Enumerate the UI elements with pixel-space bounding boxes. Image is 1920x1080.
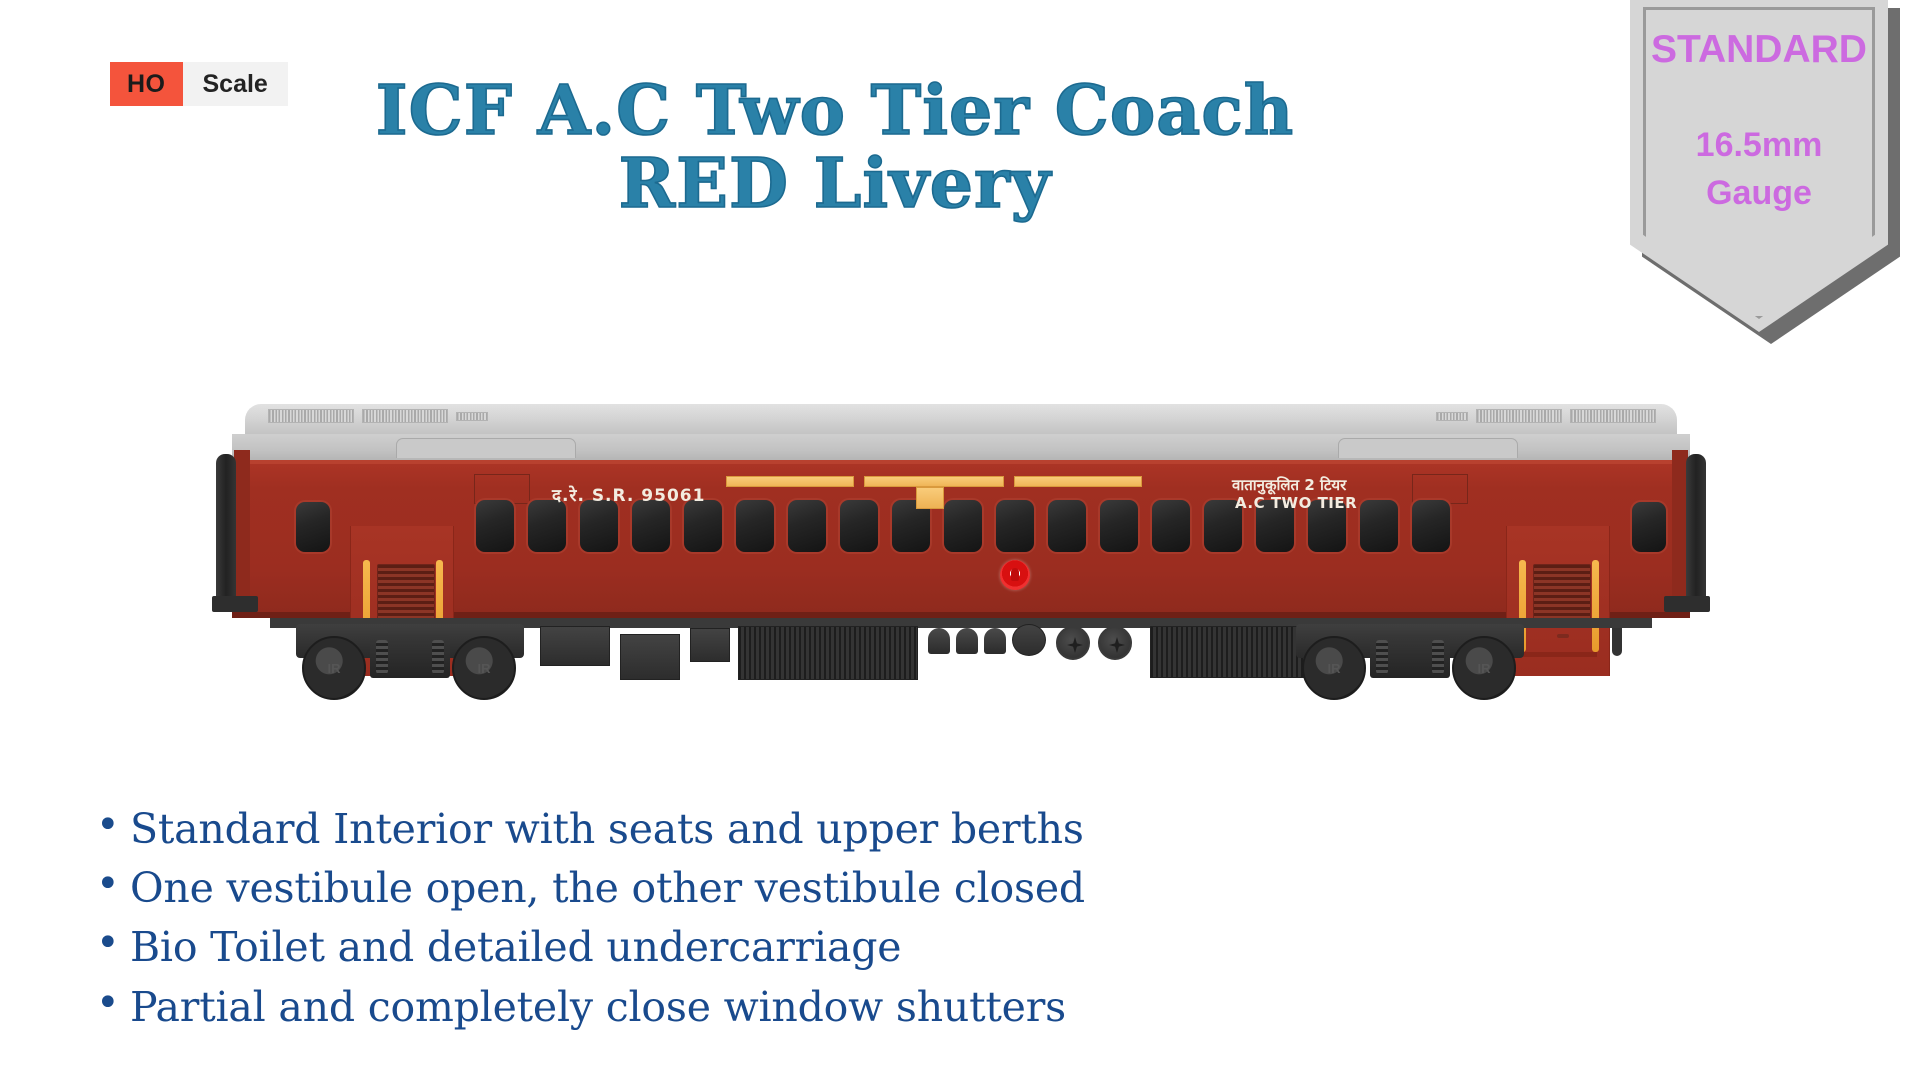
door-louver-icon [377, 564, 435, 626]
door-louver-icon [1533, 564, 1591, 626]
coach-class-hindi: वातानुकूलित 2 टियर [1232, 475, 1346, 495]
air-cylinder [928, 628, 950, 654]
coach-illustration: द.रे. S.R. 95061 वातानुकूलित 2 टियर A.C … [210, 398, 1710, 688]
roof-vent-icon [1436, 412, 1468, 421]
grab-rail-icon [1592, 560, 1599, 652]
door-step [1521, 652, 1597, 657]
list-item: • Partial and completely close window sh… [96, 978, 1396, 1036]
roof-vent-icon [456, 412, 488, 421]
wheel: IR [1302, 636, 1366, 700]
wheel: IR [1452, 636, 1516, 700]
coach-window [788, 500, 826, 552]
bogie-spring [1432, 640, 1444, 674]
wheel-ir-mark: IR [454, 638, 514, 698]
list-item: • One vestibule open, the other vestibul… [96, 859, 1396, 917]
wheel: IR [452, 636, 516, 700]
bogie-spring [432, 640, 444, 674]
battery-box-grille [738, 626, 918, 680]
coach-window [528, 500, 566, 552]
coach-window [1412, 500, 1450, 552]
feature-text: Bio Toilet and detailed undercarriage [130, 918, 901, 976]
wheel: IR [302, 636, 366, 700]
bullet-icon: • [96, 918, 130, 963]
list-item: • Bio Toilet and detailed undercarriage [96, 918, 1396, 976]
livery-stripe [1014, 476, 1142, 487]
coach-window [1048, 500, 1086, 552]
underframe-drum [1012, 624, 1046, 656]
gauge-heading: STANDARD [1630, 28, 1888, 72]
feature-text: Partial and completely close window shut… [130, 978, 1066, 1036]
battery-box-grille [1150, 626, 1310, 678]
underframe-box [620, 634, 680, 680]
title-line-2: RED Livery [0, 148, 1670, 221]
door-handle-icon [1557, 634, 1569, 638]
coach-window [1100, 500, 1138, 552]
underframe-box [540, 626, 610, 666]
feature-list: • Standard Interior with seats and upper… [96, 800, 1396, 1037]
coach-window [684, 500, 722, 552]
coach-window [736, 500, 774, 552]
bogie-front: IR IR [296, 620, 524, 690]
page-title: ICF A.C Two Tier Coach RED Livery [0, 75, 1670, 221]
roof-hatch [396, 438, 576, 458]
coach-window [580, 500, 618, 552]
roof-vent-icon [362, 409, 448, 423]
bogie-spring [1376, 640, 1388, 674]
bullet-icon: • [96, 978, 130, 1023]
bogie-rear: IR IR [1296, 620, 1524, 690]
wheel-ir-mark: IR [304, 638, 364, 698]
feature-text: Standard Interior with seats and upper b… [130, 800, 1084, 858]
wheel-ir-mark: IR [1454, 638, 1514, 698]
coach-window [476, 500, 514, 552]
gauge-unit: Gauge [1630, 174, 1888, 213]
coach-window [840, 500, 878, 552]
indian-railways-emblem-icon [1000, 560, 1030, 590]
livery-stripe [726, 476, 854, 487]
list-item: • Standard Interior with seats and upper… [96, 800, 1396, 858]
livery-stripe [864, 476, 1004, 487]
livery-stripe-tab [916, 487, 944, 509]
roof-vent-icon [1476, 409, 1562, 423]
roof-vent-icon [268, 409, 354, 423]
air-cylinder [984, 628, 1006, 654]
coach-window [1632, 502, 1666, 552]
coach-window [296, 502, 330, 552]
gauge-badge: STANDARD 16.5mm Gauge [1630, 0, 1902, 344]
air-cylinder [956, 628, 978, 654]
underframe-box [690, 628, 730, 662]
bullet-icon: • [96, 859, 130, 904]
feature-text: One vestibule open, the other vestibule … [130, 859, 1085, 917]
gauge-value: 16.5mm [1630, 126, 1888, 165]
fan-unit-icon [1056, 626, 1090, 660]
coach-side-details: द.रे. S.R. 95061 वातानुकूलित 2 टियर A.C … [232, 460, 1690, 618]
underframe-bracket [1612, 628, 1622, 656]
roof-hatch [1338, 438, 1518, 458]
bogie-spring [376, 640, 388, 674]
roof-vent-icon [1570, 409, 1656, 423]
coach-class-english: A.C TWO TIER [1235, 494, 1357, 512]
coach-window [1360, 500, 1398, 552]
coach-window [1152, 500, 1190, 552]
fan-unit-icon [1098, 626, 1132, 660]
coach-window [996, 500, 1034, 552]
coach-window [944, 500, 982, 552]
coach-road-number: द.रे. S.R. 95061 [552, 483, 705, 506]
bullet-icon: • [96, 800, 130, 845]
wheel-ir-mark: IR [1304, 638, 1364, 698]
title-line-1: ICF A.C Two Tier Coach [0, 75, 1670, 148]
coach-window [632, 500, 670, 552]
